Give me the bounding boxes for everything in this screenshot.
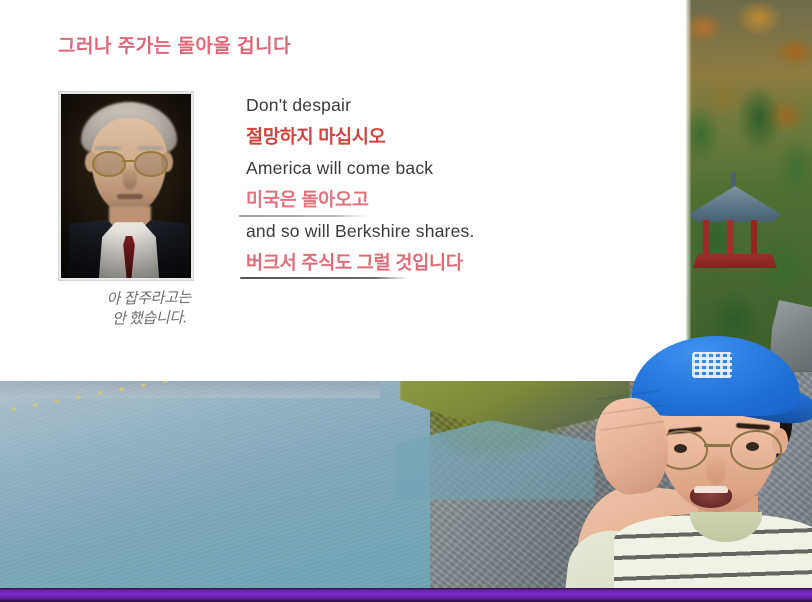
quote-line-ko-3: 버크서 주식도 그럴 것입니다 xyxy=(246,254,666,273)
pavilion-finial xyxy=(731,172,736,188)
quote-line-ko-2: 미국은 돌아오고 xyxy=(246,191,666,210)
quote-line-ko-1: 절망하지 마십시오 xyxy=(246,128,666,147)
presentation-slide: 그러나 주가는 돌아올 겁니다 xyxy=(0,0,686,381)
presenter-glasses-bridge xyxy=(704,444,730,447)
mountain-pavilion-scene xyxy=(685,0,812,372)
quote-line-en-1: Don't despair xyxy=(246,97,666,115)
portrait-frame xyxy=(59,92,193,280)
screenshot-root: 그러나 주가는 돌아올 겁니다 xyxy=(0,0,812,602)
pavilion-base-platform xyxy=(693,254,777,268)
presenter-fingers xyxy=(596,390,667,456)
quote-line-en-3: and so will Berkshire shares. xyxy=(246,223,666,241)
handwritten-line-2: 안 했습니다. xyxy=(74,308,224,331)
quote-block: Don't despair 절망하지 마십시오 America will com… xyxy=(246,97,666,286)
presenter-teeth xyxy=(694,486,728,493)
quote-line-en-2: America will come back xyxy=(246,160,666,178)
presenter-lens-right xyxy=(730,430,782,470)
warren-buffett-portrait xyxy=(61,94,191,278)
presenter-cap-logo xyxy=(692,352,732,378)
presenter-webcam xyxy=(586,336,812,602)
handwritten-annotation: 아 잡주라고는 안 했습니다. xyxy=(74,288,225,331)
portrait-vignette xyxy=(61,94,191,278)
presenter-nose xyxy=(706,456,726,484)
slide-title: 그러나 주가는 돌아올 겁니다 xyxy=(58,31,291,58)
bottom-accent-bar xyxy=(0,588,812,602)
